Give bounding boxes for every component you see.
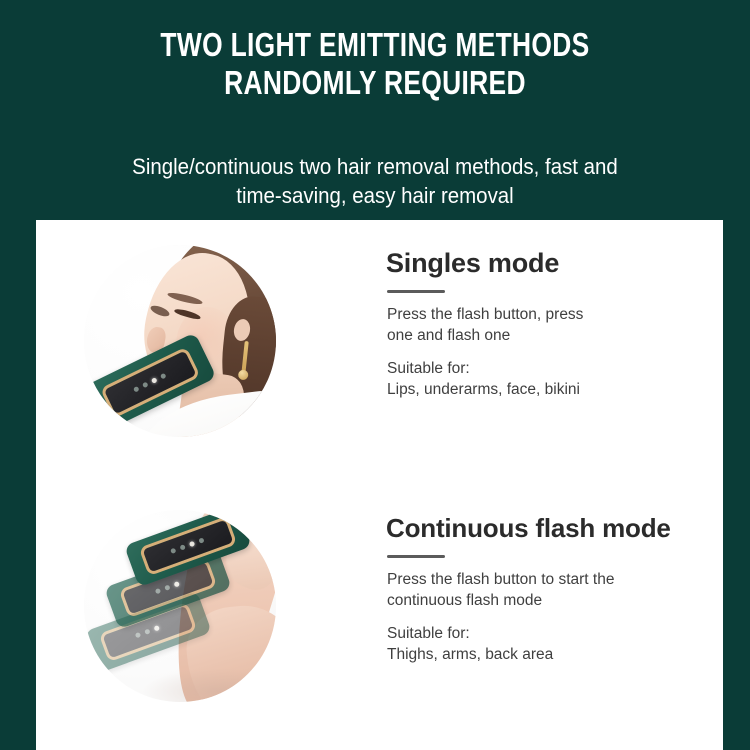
continuous-suitable-value: Thighs, arms, back area	[387, 644, 553, 665]
singles-mode-description: Press the flash button, press one and fl…	[387, 304, 687, 346]
title-underline-rule	[387, 555, 445, 558]
continuous-mode-text: Continuous flash mode Press the flash bu…	[386, 485, 706, 750]
continuous-photo-illustration	[84, 510, 276, 702]
title-underline-rule	[387, 290, 445, 293]
singles-mode-title: Singles mode	[386, 248, 559, 279]
singles-mode-text: Singles mode Press the flash button, pre…	[386, 220, 706, 485]
singles-photo-illustration	[84, 245, 276, 437]
continuous-mode-description: Press the flash button to start the cont…	[387, 569, 687, 611]
device-led-indicator	[145, 629, 151, 635]
mode-row-singles: Singles mode Press the flash button, pre…	[36, 220, 723, 485]
device-led-indicator	[171, 548, 177, 554]
device-led-indicator	[154, 625, 160, 631]
singles-mode-photo	[84, 245, 276, 437]
mode-row-continuous: Continuous flash mode Press the flash bu…	[36, 485, 723, 750]
product-feature-poster: TWO LIGHT EMITTING METHODS RANDOMLY REQU…	[0, 0, 750, 750]
device-led-indicator	[199, 538, 205, 544]
singles-suitable-value: Lips, underarms, face, bikini	[387, 379, 580, 400]
poster-header: TWO LIGHT EMITTING METHODS RANDOMLY REQU…	[0, 0, 750, 220]
device-led-indicator	[135, 632, 141, 638]
continuous-mode-title: Continuous flash mode	[386, 513, 671, 544]
continuous-suitable-label: Suitable for:	[387, 623, 470, 644]
device-led-indicator	[151, 376, 158, 383]
poster-subtitle: Single/continuous two hair removal metho…	[26, 152, 724, 210]
device-led-indicator	[165, 585, 171, 591]
device-led-indicator	[180, 544, 186, 550]
device-led-indicator	[142, 381, 149, 388]
device-led-indicator	[189, 541, 195, 547]
device-led-indicator	[174, 581, 180, 587]
device-led-indicator	[155, 588, 161, 594]
device-led-indicator	[133, 385, 140, 392]
singles-suitable-label: Suitable for:	[387, 358, 470, 379]
device-led-indicator	[160, 372, 167, 379]
poster-title: TWO LIGHT EMITTING METHODS RANDOMLY REQU…	[75, 26, 675, 102]
continuous-mode-photo	[84, 510, 276, 702]
content-card: Singles mode Press the flash button, pre…	[36, 220, 723, 750]
